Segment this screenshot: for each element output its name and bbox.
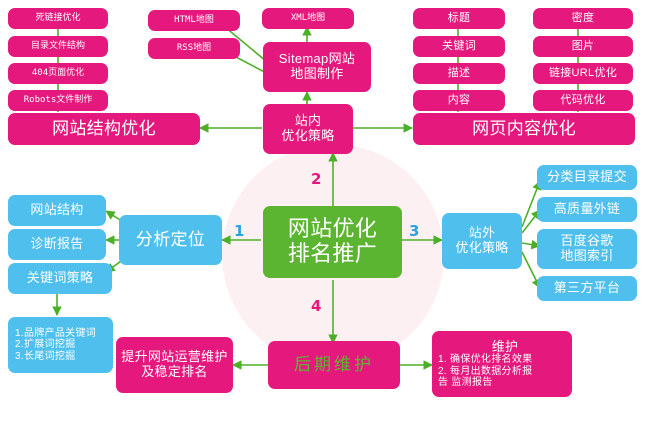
node-content-item-title[interactable]: 标题 <box>413 8 505 29</box>
center-line-2: 排名推广 <box>288 242 377 267</box>
node-offsite-quality-backlinks[interactable]: 高质量外链 <box>537 197 637 222</box>
sitemap-line-1: Sitemap网站 <box>279 52 355 67</box>
branch-number-1: 1 <box>234 222 244 240</box>
node-offsite-map-index[interactable]: 百度谷歌 地图索引 <box>537 229 637 269</box>
maintenance-item-1: 1. 确保优化排名效果 <box>438 354 532 365</box>
node-structure-item-3[interactable]: Robots文件制作 <box>8 90 108 111</box>
promote-line-2: 及稳定排名 <box>141 365 208 380</box>
sitemap-line-2: 地图制作 <box>290 67 343 82</box>
node-content-item-description[interactable]: 描述 <box>413 63 505 84</box>
maintenance-item-3: 告 监测报告 <box>438 377 493 388</box>
branch-number-4: 4 <box>311 297 321 315</box>
keyword-detail-line-2: 2.扩展词挖掘 <box>15 339 75 350</box>
node-structure-item-0[interactable]: 死链接优化 <box>8 8 108 29</box>
node-maintenance-detail[interactable]: 维护 1. 确保优化排名效果 2. 每月出数据分析报 告 监测报告 <box>432 331 572 397</box>
node-promote-operation[interactable]: 提升网站运营维护 及稳定排名 <box>116 337 233 393</box>
offsite-map-index-line-2: 地图索引 <box>560 249 613 264</box>
keyword-detail-line-3: 3.长尾词挖掘 <box>15 351 75 362</box>
node-analysis-output-report[interactable]: 诊断报告 <box>8 229 106 260</box>
node-offsite-directory-submit[interactable]: 分类目录提交 <box>537 165 637 190</box>
node-content-item-images[interactable]: 图片 <box>533 36 633 57</box>
center-line-1: 网站优化 <box>288 217 377 242</box>
node-center-hub[interactable]: 网站优化 排名推广 <box>263 206 402 278</box>
node-onsite-strategy[interactable]: 站内 优化策略 <box>263 104 353 154</box>
node-sitemap-production[interactable]: Sitemap网站 地图制作 <box>263 42 371 92</box>
node-content-item-code[interactable]: 代码优化 <box>533 90 633 111</box>
onsite-line-2: 优化策略 <box>281 129 334 144</box>
maintenance-item-2: 2. 每月出数据分析报 <box>438 366 532 377</box>
node-xml-map[interactable]: XML地图 <box>262 8 354 29</box>
offsite-map-index-line-1: 百度谷歌 <box>560 234 613 249</box>
node-offsite-strategy[interactable]: 站外 优化策略 <box>442 213 522 269</box>
offsite-line-1: 站外 <box>469 226 496 241</box>
node-structure-item-2[interactable]: 404页面优化 <box>8 63 108 84</box>
node-site-structure-optimization[interactable]: 网站结构优化 <box>8 113 200 145</box>
node-offsite-third-party[interactable]: 第三方平台 <box>537 276 637 301</box>
keyword-detail-line-1: 1.品牌产品关键词 <box>15 328 96 339</box>
node-content-item-keywords[interactable]: 关键词 <box>413 36 505 57</box>
node-analysis-output-structure[interactable]: 网站结构 <box>8 195 106 226</box>
node-page-content-optimization[interactable]: 网页内容优化 <box>413 113 635 145</box>
node-rss-map[interactable]: RSS地图 <box>148 38 240 59</box>
node-keyword-detail[interactable]: 1.品牌产品关键词 2.扩展词挖掘 3.长尾词挖掘 <box>8 317 113 373</box>
node-content-item-url[interactable]: 链接URL优化 <box>533 63 633 84</box>
node-analysis-position[interactable]: 分析定位 <box>119 215 222 265</box>
diagram-canvas: 死链接优化 目录文件结构 404页面优化 Robots文件制作 网站结构优化 H… <box>0 0 645 426</box>
node-content-item-content[interactable]: 内容 <box>413 90 505 111</box>
offsite-line-2: 优化策略 <box>455 241 508 256</box>
promote-line-1: 提升网站运营维护 <box>121 350 227 365</box>
node-analysis-output-keyword-strategy[interactable]: 关键词策略 <box>8 263 112 294</box>
onsite-line-1: 站内 <box>295 114 322 129</box>
node-html-map[interactable]: HTML地图 <box>148 10 240 31</box>
branch-number-3: 3 <box>409 222 419 240</box>
node-content-item-density[interactable]: 密度 <box>533 8 633 29</box>
maintenance-title: 维护 <box>492 340 519 355</box>
branch-number-2: 2 <box>311 170 321 188</box>
node-structure-item-1[interactable]: 目录文件结构 <box>8 36 108 57</box>
node-later-maintenance[interactable]: 后期维护 <box>268 341 400 389</box>
